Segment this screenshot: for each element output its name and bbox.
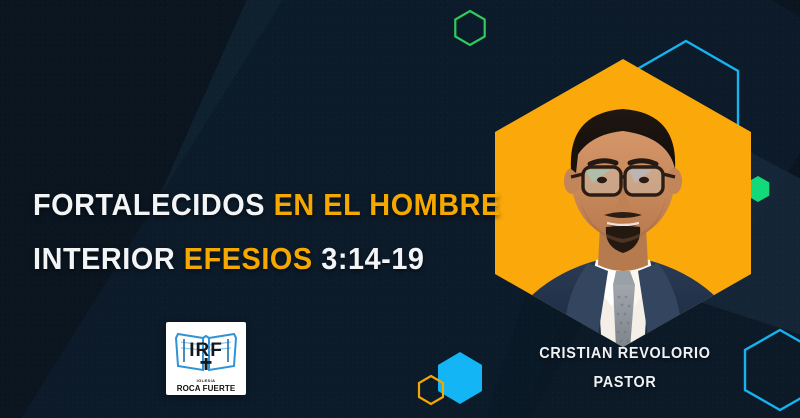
title-word-en-el: EN EL: [274, 187, 361, 222]
logo-subtitle-small: IGLESIA: [197, 378, 216, 383]
logo-subtitle-large: ROCA FUERTE: [177, 384, 236, 393]
speaker-portrait: [492, 57, 754, 349]
sermon-title: FORTALECIDOS EN EL HOMBRE INTERIOR EFESI…: [33, 178, 453, 286]
title-word-fortalecidos: FORTALECIDOS: [33, 187, 265, 222]
title-word-hombre: HOMBRE: [369, 187, 500, 222]
church-logo: IRF IGLESIA ROCA FUERTE: [166, 322, 246, 395]
title-scripture-reference: 3:14-19: [321, 241, 424, 276]
speaker-role: PASTOR: [513, 374, 738, 392]
sermon-title-line-2: INTERIOR EFESIOS 3:14-19: [33, 232, 424, 286]
sermon-announcement-graphic: FORTALECIDOS EN EL HOMBRE INTERIOR EFESI…: [0, 0, 800, 418]
speaker-name: CRISTIAN REVOLORIO: [513, 345, 738, 363]
title-word-efesios: EFESIOS: [184, 241, 313, 276]
sermon-title-line-1: FORTALECIDOS EN EL HOMBRE: [33, 178, 424, 232]
title-word-interior: INTERIOR: [33, 241, 175, 276]
speaker-caption: CRISTIAN REVOLORIO PASTOR: [500, 345, 750, 392]
